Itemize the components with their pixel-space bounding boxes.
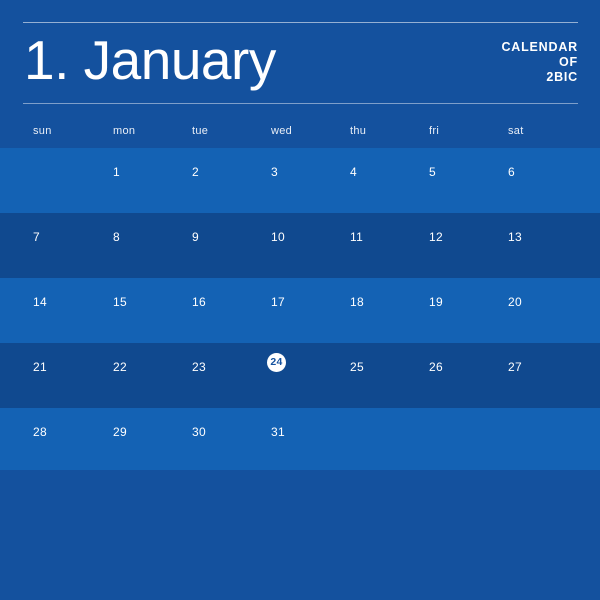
page-title: 1. January: [24, 28, 276, 92]
calendar-week-row: 21222324252627: [0, 343, 600, 408]
calendar-page: 1. January CALENDAR OF 2BIC sun mon tue …: [0, 0, 600, 600]
day-cell-today[interactable]: 24: [267, 353, 286, 372]
calendar-grid: 1234567891011121314151617181920212223242…: [0, 148, 600, 470]
weekday-thu: thu: [350, 125, 366, 137]
calendar-week-row: 78910111213: [0, 213, 600, 278]
brand-line-2: OF: [501, 55, 578, 70]
weekday-sun: sun: [33, 125, 52, 137]
brand-label: CALENDAR OF 2BIC: [501, 40, 578, 85]
calendar-footer: 그대와 나만 CALENDAR OF 2BIC: [0, 470, 600, 600]
weekday-header-row: sun mon tue wed thu fri sat: [0, 115, 600, 148]
day-cell[interactable]: 7: [33, 230, 40, 244]
day-cell[interactable]: 22: [113, 360, 127, 374]
day-cell[interactable]: 15: [113, 295, 127, 309]
weekday-fri: fri: [429, 125, 439, 137]
day-cell[interactable]: 11: [350, 230, 363, 244]
weekday-wed: wed: [271, 125, 292, 137]
day-cell[interactable]: 6: [508, 165, 515, 179]
brand-line-1: CALENDAR: [501, 40, 578, 55]
day-cell[interactable]: 10: [271, 230, 285, 244]
day-cell[interactable]: 1: [113, 165, 120, 179]
day-cell[interactable]: 14: [33, 295, 47, 309]
calendar-week-row: 14151617181920: [0, 278, 600, 343]
calendar-header: 1. January CALENDAR OF 2BIC: [0, 0, 600, 115]
day-cell[interactable]: 31: [271, 425, 285, 439]
weekday-sat: sat: [508, 125, 524, 137]
day-cell[interactable]: 3: [271, 165, 278, 179]
day-cell[interactable]: 27: [508, 360, 522, 374]
day-cell[interactable]: 4: [350, 165, 357, 179]
day-cell[interactable]: 28: [33, 425, 47, 439]
header-top-divider: [23, 22, 578, 23]
calendar-week-row: 123456: [0, 148, 600, 213]
header-bottom-divider: [23, 103, 578, 104]
day-cell[interactable]: 29: [113, 425, 127, 439]
weekday-mon: mon: [113, 125, 135, 137]
day-cell[interactable]: 26: [429, 360, 443, 374]
day-cell[interactable]: 30: [192, 425, 206, 439]
day-cell[interactable]: 17: [271, 295, 285, 309]
day-cell[interactable]: 5: [429, 165, 436, 179]
day-cell[interactable]: 12: [429, 230, 443, 244]
day-cell[interactable]: 25: [350, 360, 364, 374]
weekday-tue: tue: [192, 125, 208, 137]
day-cell[interactable]: 23: [192, 360, 206, 374]
day-cell[interactable]: 16: [192, 295, 206, 309]
calendar-week-row: 28293031: [0, 408, 600, 473]
day-cell[interactable]: 18: [350, 295, 364, 309]
day-cell[interactable]: 13: [508, 230, 522, 244]
day-cell[interactable]: 2: [192, 165, 199, 179]
day-cell[interactable]: 9: [192, 230, 199, 244]
day-cell[interactable]: 20: [508, 295, 522, 309]
day-cell[interactable]: 21: [33, 360, 47, 374]
day-cell[interactable]: 8: [113, 230, 120, 244]
brand-line-3: 2BIC: [501, 70, 578, 85]
day-cell[interactable]: 19: [429, 295, 443, 309]
